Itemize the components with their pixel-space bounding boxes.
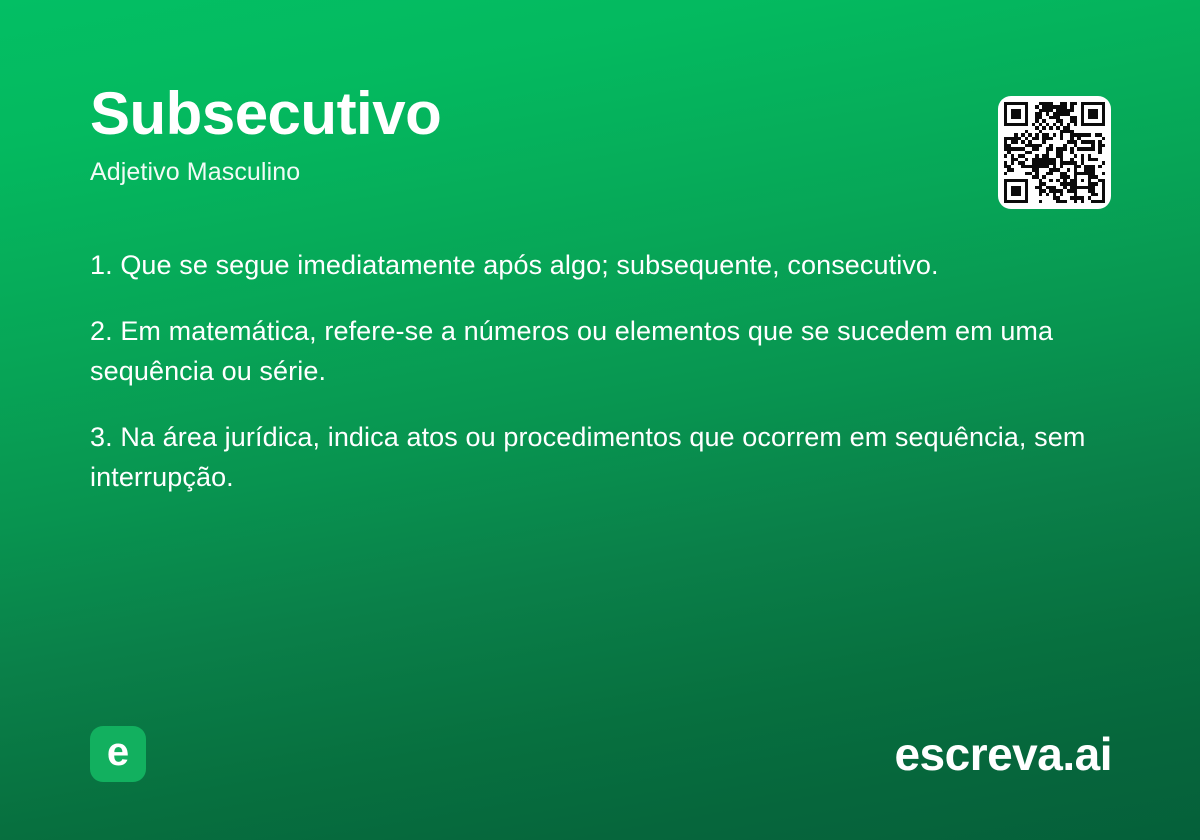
qr-code-icon (1004, 102, 1105, 203)
card-header: Subsecutivo Adjetivo Masculino (90, 82, 1110, 187)
definition-item: 1. Que se segue imediatamente após algo;… (90, 246, 1090, 286)
logo-letter: e (107, 732, 129, 772)
logo-mark[interactable]: e (90, 726, 146, 782)
definition-card: Subsecutivo Adjetivo Masculino 1. Que se… (0, 0, 1200, 840)
definition-item: 2. Em matemática, refere-se a números ou… (90, 312, 1090, 392)
page-title: Subsecutivo (90, 82, 1110, 145)
brand-wordmark: escreva.ai (894, 726, 1112, 782)
definition-list: 1. Que se segue imediatamente após algo;… (90, 246, 1090, 498)
word-class-label: Adjetivo Masculino (90, 159, 1110, 187)
definition-item: 3. Na área jurídica, indica atos ou proc… (90, 418, 1090, 498)
qr-code[interactable] (998, 96, 1111, 209)
